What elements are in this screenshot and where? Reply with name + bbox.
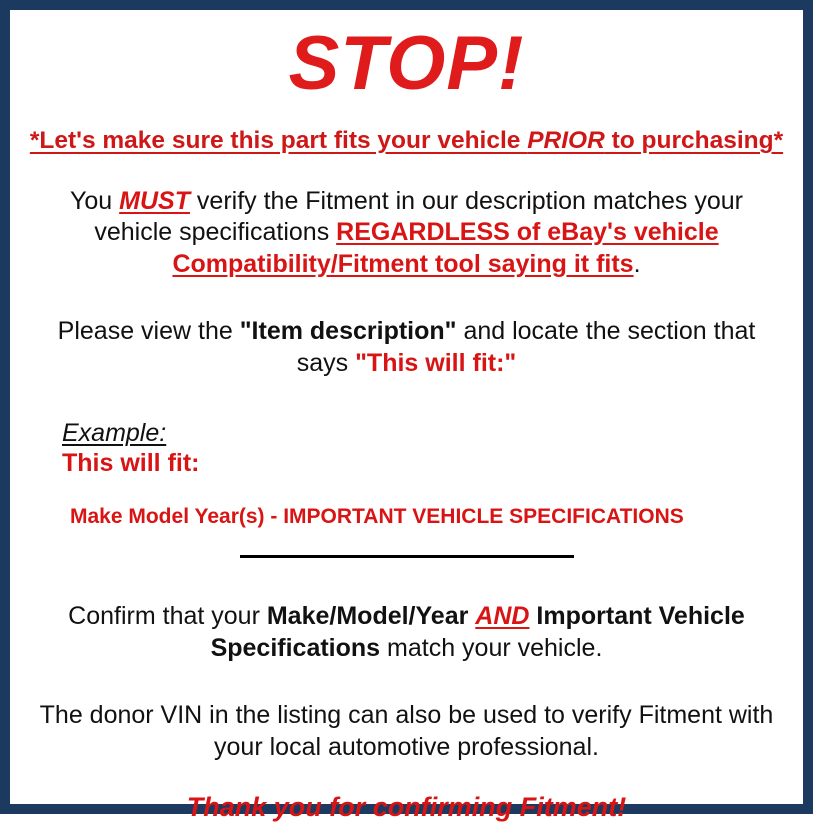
example-label-row: Example:	[62, 419, 789, 447]
horizontal-rule-divider	[240, 555, 574, 558]
must-emphasis: MUST	[119, 187, 190, 215]
must-part-3: .	[634, 250, 641, 278]
please-part-1: Please view the	[58, 317, 240, 345]
notice-content: STOP! *Let's make sure this part fits yo…	[24, 26, 789, 824]
example-label: Example:	[62, 419, 166, 447]
and-emphasis: AND	[475, 602, 529, 630]
thank-you-line: Thank you for confirming Fitment!	[24, 791, 789, 823]
make-model-year-emphasis: Make/Model/Year	[267, 602, 468, 630]
donor-vin-paragraph: The donor VIN in the listing can also be…	[24, 700, 789, 763]
this-will-fit-emphasis: "This will fit:"	[355, 349, 516, 377]
must-part-1: You	[70, 187, 119, 215]
example-block: Example: This will fit: Make Model Year(…	[24, 419, 789, 529]
please-view-paragraph: Please view the "Item description" and l…	[24, 316, 789, 379]
stop-headline: STOP!	[24, 26, 789, 102]
confirm-part-4: match your vehicle.	[380, 634, 602, 662]
tagline-lead: *Let's make sure this part fits your veh…	[30, 127, 527, 154]
must-verify-paragraph: You MUST verify the Fitment in our descr…	[24, 186, 789, 281]
divider-wrapper	[24, 555, 789, 569]
tagline-tail: to purchasing*	[605, 127, 783, 154]
example-spec-line: Make Model Year(s) - IMPORTANT VEHICLE S…	[62, 504, 789, 529]
confirm-part-1: Confirm that your	[68, 602, 267, 630]
example-fits-heading: This will fit:	[62, 449, 789, 479]
fitment-tagline: *Let's make sure this part fits your veh…	[24, 128, 789, 155]
fitment-notice-card: STOP! *Let's make sure this part fits yo…	[0, 0, 813, 814]
confirm-paragraph: Confirm that your Make/Model/Year AND Im…	[24, 601, 789, 664]
tagline-emphasis-prior: PRIOR	[527, 127, 605, 154]
item-description-emphasis: "Item description"	[240, 317, 457, 345]
